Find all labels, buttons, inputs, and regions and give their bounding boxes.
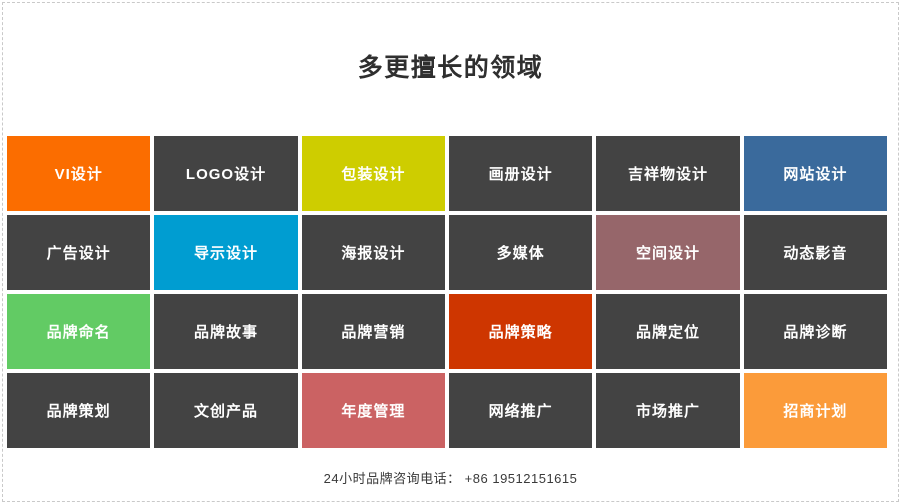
service-cell[interactable]: 品牌定位 [596, 294, 739, 369]
service-cell[interactable]: VI设计 [7, 136, 150, 211]
title-area: 多更擅长的领域 [0, 0, 901, 136]
service-cell[interactable]: 招商计划 [744, 373, 887, 448]
page-title: 多更擅长的领域 [358, 56, 544, 81]
slide-page: 多更擅长的领域 VI设计LOGO设计包装设计画册设计吉祥物设计网站设计广告设计导… [0, 0, 901, 504]
service-cell[interactable]: 海报设计 [302, 215, 445, 290]
service-cell[interactable]: 包装设计 [302, 136, 445, 211]
service-cell[interactable]: 空间设计 [596, 215, 739, 290]
service-cell[interactable]: 品牌命名 [7, 294, 150, 369]
service-cell[interactable]: 网络推广 [449, 373, 592, 448]
service-cell[interactable]: 文创产品 [154, 373, 297, 448]
service-cell[interactable]: 网站设计 [744, 136, 887, 211]
service-cell[interactable]: 品牌故事 [154, 294, 297, 369]
service-cell[interactable]: 导示设计 [154, 215, 297, 290]
service-cell[interactable]: 画册设计 [449, 136, 592, 211]
contact-phone-text: 24小时品牌咨询电话： +86 19512151615 [324, 468, 578, 487]
service-cell[interactable]: 动态影音 [744, 215, 887, 290]
service-cell[interactable]: 广告设计 [7, 215, 150, 290]
service-cell[interactable]: 市场推广 [596, 373, 739, 448]
service-grid: VI设计LOGO设计包装设计画册设计吉祥物设计网站设计广告设计导示设计海报设计多… [7, 136, 887, 448]
service-cell[interactable]: 品牌营销 [302, 294, 445, 369]
footer: 24小时品牌咨询电话： +86 19512151615 [0, 455, 901, 500]
service-cell[interactable]: 品牌策划 [7, 373, 150, 448]
service-cell[interactable]: LOGO设计 [154, 136, 297, 211]
service-cell[interactable]: 多媒体 [449, 215, 592, 290]
service-cell[interactable]: 品牌策略 [449, 294, 592, 369]
service-cell[interactable]: 品牌诊断 [744, 294, 887, 369]
service-cell[interactable]: 吉祥物设计 [596, 136, 739, 211]
service-cell[interactable]: 年度管理 [302, 373, 445, 448]
